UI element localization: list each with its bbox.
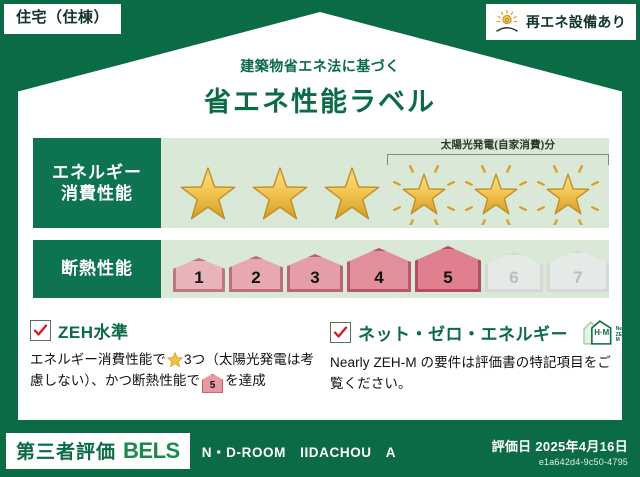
sparkle-star-icon [391, 165, 457, 225]
insulation-performance-label-box: 断熱性能 [33, 240, 161, 298]
renewable-equipment-label: 再エネ設備あり [526, 12, 626, 32]
star-icon [247, 165, 313, 225]
insulation-badge-3: 3 [287, 254, 343, 292]
star-icon [319, 165, 385, 225]
zeh-m-sub-line2: ZEH-M [616, 332, 628, 343]
title-block: 建築物省エネ法に基づく 省エネ性能ラベル [0, 56, 640, 119]
building-name: N・D-ROOM IIDACHOU A [202, 441, 396, 461]
bels-en-label: BELS [123, 438, 180, 464]
solar-caption: 太陽光発電(自家消費)分 [376, 137, 620, 152]
inline-insulation-badge: 5 [202, 374, 223, 393]
inline-star-icon [167, 352, 183, 367]
renewable-equipment-chip: D 再エネ設備あり [486, 4, 636, 40]
insulation-badge-7: 7 [547, 250, 609, 292]
insulation-badge-strip: 1234567 [161, 240, 609, 298]
insulation-badge-5: 5 [415, 246, 481, 292]
note-zeh-text-3: を達成 [225, 373, 266, 388]
footer-meta: 評価日 2025年4月16日 e1a642d4-9c50-4795 [492, 436, 628, 467]
energy-label-line1: エネルギー [52, 162, 142, 183]
insulation-badge-2: 2 [229, 256, 283, 292]
svg-text:H·M: H·M [594, 328, 609, 337]
note-zeh-standard: ZEH水準 エネルギー消費性能で3つ（太陽光発電は考慮しない）、かつ断熱性能で5… [30, 318, 318, 393]
energy-performance-label: 住宅（住棟） D 再エネ設備あり 建築物省エネ法に基づ [0, 0, 640, 477]
check-icon [33, 323, 48, 338]
insulation-performance-body: 1234567 [161, 240, 609, 298]
note-netzero-title: ネット・ゼロ・エネルギー [358, 320, 568, 345]
energy-performance-row: エネルギー 消費性能 太陽光発電(自家消費)分 [33, 138, 609, 228]
svg-text:D: D [505, 18, 509, 24]
sparkle-star-icon [463, 165, 529, 225]
evaluation-date: 評価日 2025年4月16日 [492, 436, 628, 455]
note-net-zero-energy: ネット・ゼロ・エネルギー H·M Nearly ZEH-M Nearly ZEH… [330, 318, 616, 395]
checkbox-zeh[interactable] [30, 320, 51, 341]
house-type-label: 住宅（住棟） [16, 9, 109, 26]
note-zeh-body: エネルギー消費性能で3つ（太陽光発電は考慮しない）、かつ断熱性能で5を達成 [30, 350, 318, 393]
evaluation-id: e1a642d4-9c50-4795 [492, 457, 628, 467]
check-icon [333, 325, 348, 340]
energy-performance-body: 太陽光発電(自家消費)分 [161, 138, 609, 228]
footer-bar: 第三者評価 BELS N・D-ROOM IIDACHOU A 評価日 2025年… [0, 425, 640, 477]
checkbox-net-zero[interactable] [330, 322, 351, 343]
star-icon [175, 165, 241, 225]
energy-label-line2: 消費性能 [61, 183, 133, 204]
bels-jp-label: 第三者評価 [16, 437, 116, 464]
note-zeh-star-count: 3つ [184, 352, 205, 367]
star-rating-strip [161, 164, 609, 226]
note-zeh-text-1: エネルギー消費性能で [30, 352, 166, 367]
sparkle-star-icon [535, 165, 601, 225]
bels-chip: 第三者評価 BELS [6, 433, 190, 469]
note-netzero-body: Nearly ZEH-M の要件は評価書の特記項目をご覧ください。 [330, 353, 616, 395]
zeh-m-logo: H·M Nearly ZEH-M [580, 318, 631, 346]
insulation-badge-4: 4 [347, 248, 411, 292]
note-zeh-header: ZEH水準 [30, 318, 318, 343]
zeh-m-logo-subtext: Nearly ZEH-M [616, 327, 632, 346]
title-subtitle: 建築物省エネ法に基づく [0, 56, 640, 76]
zeh-m-house-icon: H·M [580, 318, 614, 346]
insulation-label: 断熱性能 [61, 258, 133, 279]
energy-performance-label-box: エネルギー 消費性能 [33, 138, 161, 228]
note-zeh-title: ZEH水準 [58, 318, 129, 343]
solar-bracket [387, 154, 609, 165]
insulation-badge-1: 1 [173, 258, 225, 292]
insulation-badge-6: 6 [485, 252, 543, 292]
page-title: 省エネ性能ラベル [0, 80, 640, 119]
sun-icon: D [494, 9, 520, 35]
note-netzero-header: ネット・ゼロ・エネルギー H·M Nearly ZEH-M [330, 318, 616, 346]
house-type-chip: 住宅（住棟） [4, 4, 121, 34]
insulation-performance-row: 断熱性能 1234567 [33, 240, 609, 298]
